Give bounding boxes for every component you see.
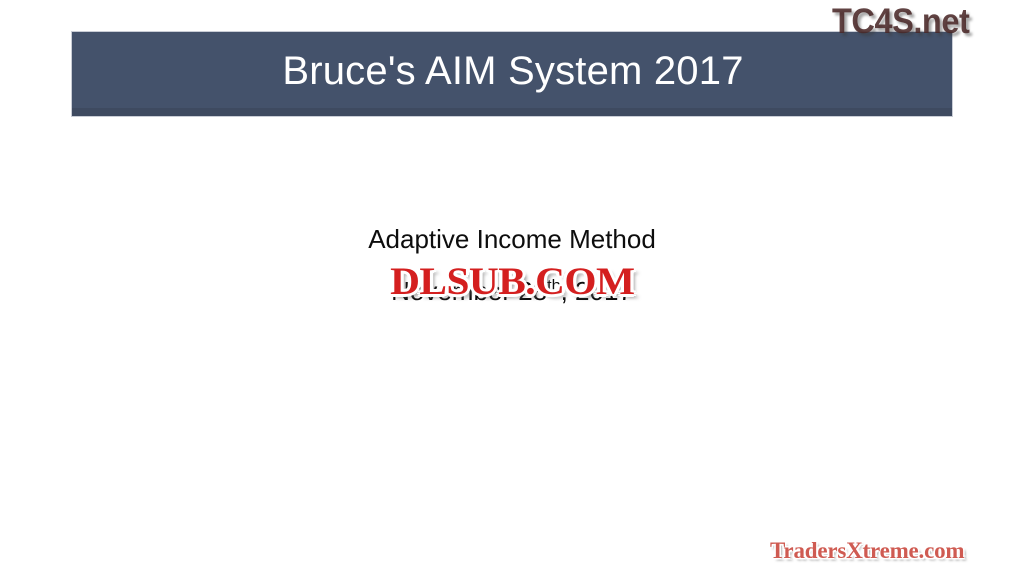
title-banner: Bruce's AIM System 2017	[71, 31, 953, 117]
date-text: November 28th, 2017	[0, 274, 1024, 308]
date-month-day: November 28	[391, 276, 547, 306]
tradersxtreme-watermark: TradersXtreme.com	[770, 538, 964, 564]
slide-title: Bruce's AIM System 2017	[282, 51, 743, 91]
date-ordinal-suffix: th	[547, 276, 560, 294]
date-year: , 2017	[561, 276, 633, 306]
slide-body: Adaptive Income Method November 28th, 20…	[0, 222, 1024, 308]
subtitle-text: Adaptive Income Method	[0, 222, 1024, 256]
tradersxtreme-watermark-text: TradersXtreme.com	[770, 538, 964, 564]
presentation-slide: Bruce's AIM System 2017 Adaptive Income …	[0, 0, 1024, 576]
